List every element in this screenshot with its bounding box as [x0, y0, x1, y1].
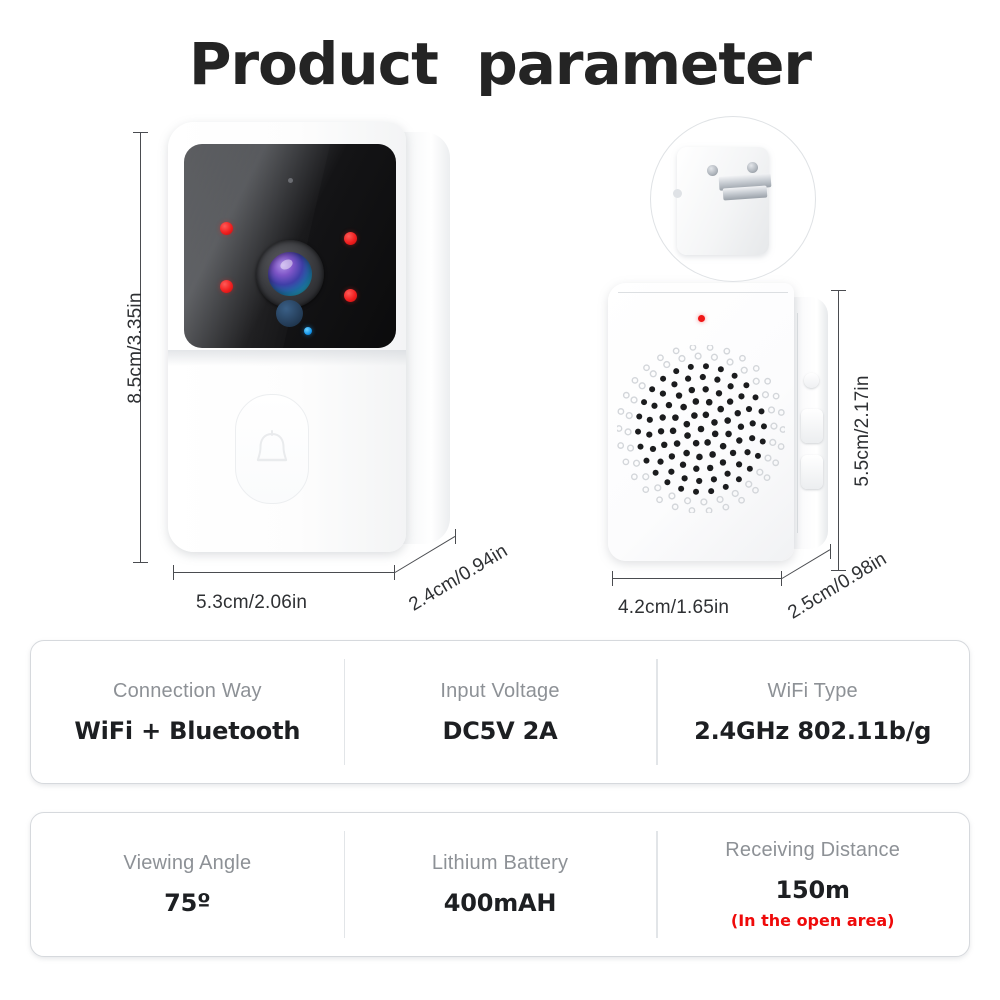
- bell-icon: [254, 427, 290, 471]
- infrared-led-icon: [344, 289, 357, 302]
- chime-front-face: [608, 283, 794, 561]
- doorbell-bell-button[interactable]: [235, 394, 309, 504]
- plug-prongs-closeup: [650, 116, 816, 282]
- spec-cell-lithium-battery: Lithium Battery 400mAH: [344, 813, 657, 956]
- spec-label: Connection Way: [113, 680, 262, 703]
- chime-width-dimension-line: [612, 578, 782, 579]
- side-button-volume[interactable]: [801, 455, 823, 489]
- doorbell-width-label: 5.3cm/2.06in: [196, 592, 307, 614]
- wireless-chime-receiver: [608, 283, 828, 564]
- dimension-cap: [133, 132, 148, 133]
- infrared-led-icon: [344, 232, 357, 245]
- spec-value: 75º: [164, 889, 210, 917]
- spec-label: Lithium Battery: [432, 852, 568, 875]
- chime-side-face: [788, 297, 828, 549]
- housing-edge-detail: [673, 189, 682, 198]
- side-button-melody[interactable]: [801, 409, 823, 443]
- doorbell-front-face: [168, 122, 406, 552]
- red-indicator-led-icon: [698, 315, 705, 322]
- doorbell-height-label: 8.5cm/3.35in: [125, 278, 147, 418]
- spec-label: WiFi Type: [768, 680, 858, 703]
- spec-value: WiFi + Bluetooth: [74, 717, 300, 745]
- chime-width-label: 4.2cm/1.65in: [618, 597, 729, 619]
- spec-value: 150m: [776, 876, 850, 904]
- spec-value: 2.4GHz 802.11b/g: [694, 717, 931, 745]
- housing-screw-icon: [707, 165, 718, 176]
- housing-screw-icon: [747, 162, 758, 173]
- spec-card-row-2: Viewing Angle 75º Lithium Battery 400mAH…: [30, 812, 970, 957]
- dimension-cap: [831, 290, 846, 291]
- spec-card-row-1: Connection Way WiFi + Bluetooth Input Vo…: [30, 640, 970, 784]
- spec-cell-receiving-distance: Receiving Distance 150m (In the open are…: [656, 813, 969, 956]
- lens-glint: [279, 257, 295, 271]
- doorbell-width-dimension-line: [173, 572, 395, 573]
- infrared-led-icon: [220, 222, 233, 235]
- spec-label: Receiving Distance: [725, 839, 900, 862]
- spec-label: Viewing Angle: [123, 852, 251, 875]
- pir-motion-sensor-icon: [276, 300, 303, 327]
- spec-cell-connection-way: Connection Way WiFi + Bluetooth: [31, 641, 344, 783]
- spec-note: (In the open area): [731, 911, 895, 930]
- dimension-cap: [612, 571, 613, 586]
- dimension-cap: [830, 544, 831, 559]
- camera-lens-icon: [256, 240, 324, 308]
- microphone-pinhole-icon: [288, 178, 293, 183]
- dimension-cap: [133, 562, 148, 563]
- video-doorbell-camera: [168, 122, 450, 554]
- spec-cell-input-voltage: Input Voltage DC5V 2A: [344, 641, 657, 783]
- doorbell-glass-panel: [184, 144, 396, 348]
- infrared-led-icon: [220, 280, 233, 293]
- spec-cell-viewing-angle: Viewing Angle 75º: [31, 813, 344, 956]
- spec-label: Input Voltage: [440, 680, 559, 703]
- spec-value: DC5V 2A: [442, 717, 557, 745]
- chime-seam: [797, 313, 798, 533]
- speaker-grille-icon: [617, 345, 785, 513]
- chime-height-label: 5.5cm/2.17in: [852, 361, 874, 501]
- dimension-cap: [455, 529, 456, 544]
- spec-value: 400mAH: [444, 889, 557, 917]
- spec-cell-wifi-type: WiFi Type 2.4GHz 802.11b/g: [656, 641, 969, 783]
- product-illustration: 8.5cm/3.35in 5.3cm/2.06in 2.4cm/0.94in 5…: [0, 0, 1000, 630]
- chime-top-seam: [618, 292, 788, 293]
- dimension-cap: [173, 565, 174, 580]
- chime-height-dimension-line: [838, 290, 839, 570]
- volume-knob-button[interactable]: [804, 373, 819, 388]
- blue-status-led-icon: [304, 327, 312, 335]
- lens-glass: [268, 252, 312, 296]
